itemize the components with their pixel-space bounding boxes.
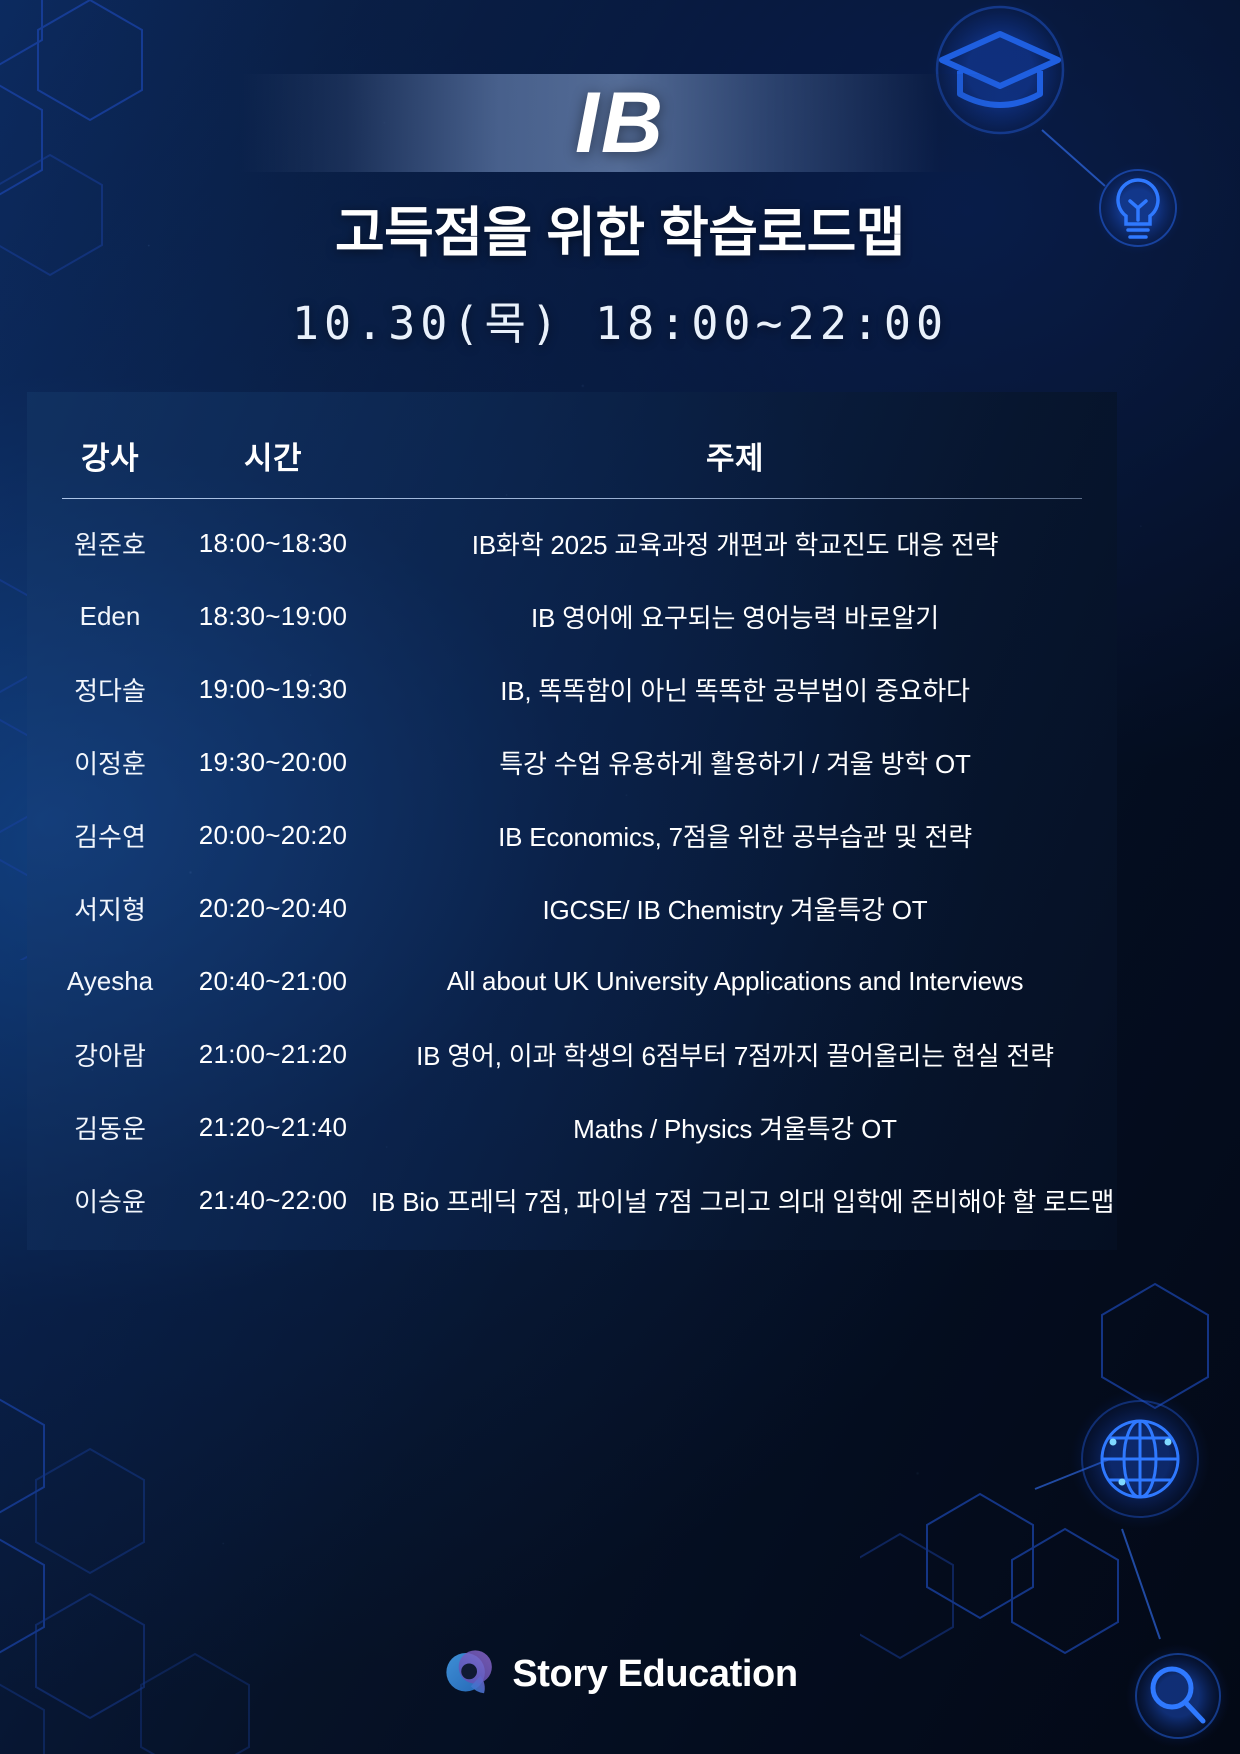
- cell-topic: IB 영어, 이과 학생의 6점부터 7점까지 끌어올리는 현실 전략: [371, 1036, 1099, 1073]
- cell-time: 21:40~22:00: [175, 1185, 371, 1216]
- schedule-panel: 강사 시간 주제 원준호 18:00~18:30 IB화학 2025 교육과정 …: [27, 392, 1117, 1250]
- ib-title-band: IB: [240, 74, 1000, 172]
- cell-topic: IB Bio 프레딕 7점, 파이널 7점 그리고 의대 입학에 준비해야 할 …: [371, 1182, 1114, 1219]
- column-header-time: 시간: [175, 433, 371, 478]
- header-divider: [62, 498, 1082, 499]
- table-row: 강아람 21:00~21:20 IB 영어, 이과 학생의 6점부터 7점까지 …: [45, 1018, 1099, 1091]
- table-header-row: 강사 시간 주제: [45, 418, 1099, 492]
- cell-instructor: 서지형: [45, 890, 175, 927]
- cell-instructor: 이승윤: [45, 1182, 175, 1219]
- poster-header: IB 고득점을 위한 학습로드맵 10.30(목) 18:00~22:00: [0, 74, 1240, 352]
- cell-instructor: Eden: [45, 601, 175, 632]
- cell-topic: IB, 똑똑함이 아닌 똑똑한 공부법이 중요하다: [371, 671, 1099, 708]
- story-education-logo-icon: [442, 1646, 498, 1702]
- cell-topic: IGCSE/ IB Chemistry 겨울특강 OT: [371, 890, 1099, 927]
- cell-topic: Maths / Physics 겨울특강 OT: [371, 1109, 1099, 1146]
- cell-time: 20:40~21:00: [175, 966, 371, 997]
- cell-instructor: 이정훈: [45, 744, 175, 781]
- column-header-instructor: 강사: [45, 433, 175, 478]
- poster-root: IB 고득점을 위한 학습로드맵 10.30(목) 18:00~22:00 강사…: [0, 0, 1240, 1754]
- cell-time: 20:00~20:20: [175, 820, 371, 851]
- cell-topic: IB화학 2025 교육과정 개편과 학교진도 대응 전략: [371, 525, 1099, 562]
- footer-brand: Story Education: [0, 1646, 1240, 1702]
- cell-time: 21:00~21:20: [175, 1039, 371, 1070]
- table-row: 김동운 21:20~21:40 Maths / Physics 겨울특강 OT: [45, 1091, 1099, 1164]
- cell-instructor: 김동운: [45, 1109, 175, 1146]
- column-header-topic: 주제: [371, 433, 1099, 478]
- table-row: 이정훈 19:30~20:00 특강 수업 유용하게 활용하기 / 겨울 방학 …: [45, 726, 1099, 799]
- cell-time: 18:30~19:00: [175, 601, 371, 632]
- cell-time: 19:00~19:30: [175, 674, 371, 705]
- brand-name-label: Story Education: [512, 1653, 797, 1696]
- cell-time: 21:20~21:40: [175, 1112, 371, 1143]
- ib-logo-text: IB: [575, 80, 665, 166]
- cell-instructor: 김수연: [45, 817, 175, 854]
- cell-time: 19:30~20:00: [175, 747, 371, 778]
- cell-instructor: Ayesha: [45, 966, 175, 997]
- cell-instructor: 원준호: [45, 525, 175, 562]
- cell-instructor: 정다솔: [45, 671, 175, 708]
- cell-topic: IB 영어에 요구되는 영어능력 바로알기: [371, 598, 1099, 635]
- table-row: Ayesha 20:40~21:00 All about UK Universi…: [45, 945, 1099, 1018]
- event-datetime: 10.30(목) 18:00~22:00: [0, 287, 1240, 352]
- table-row: 이승윤 21:40~22:00 IB Bio 프레딕 7점, 파이널 7점 그리…: [45, 1164, 1099, 1237]
- cell-topic: IB Economics, 7점을 위한 공부습관 및 전략: [371, 817, 1099, 854]
- table-row: Eden 18:30~19:00 IB 영어에 요구되는 영어능력 바로알기: [45, 580, 1099, 653]
- schedule-table: 강사 시간 주제 원준호 18:00~18:30 IB화학 2025 교육과정 …: [27, 392, 1117, 1250]
- table-body: 원준호 18:00~18:30 IB화학 2025 교육과정 개편과 학교진도 …: [45, 507, 1099, 1237]
- cell-instructor: 강아람: [45, 1036, 175, 1073]
- cell-topic: 특강 수업 유용하게 활용하기 / 겨울 방학 OT: [371, 744, 1099, 781]
- page-title: 고득점을 위한 학습로드맵: [0, 188, 1240, 267]
- table-row: 김수연 20:00~20:20 IB Economics, 7점을 위한 공부습…: [45, 799, 1099, 872]
- cell-time: 20:20~20:40: [175, 893, 371, 924]
- table-row: 원준호 18:00~18:30 IB화학 2025 교육과정 개편과 학교진도 …: [45, 507, 1099, 580]
- cell-topic: All about UK University Applications and…: [371, 966, 1099, 997]
- table-row: 정다솔 19:00~19:30 IB, 똑똑함이 아닌 똑똑한 공부법이 중요하…: [45, 653, 1099, 726]
- cell-time: 18:00~18:30: [175, 528, 371, 559]
- table-row: 서지형 20:20~20:40 IGCSE/ IB Chemistry 겨울특강…: [45, 872, 1099, 945]
- globe-icon: [1070, 1389, 1210, 1529]
